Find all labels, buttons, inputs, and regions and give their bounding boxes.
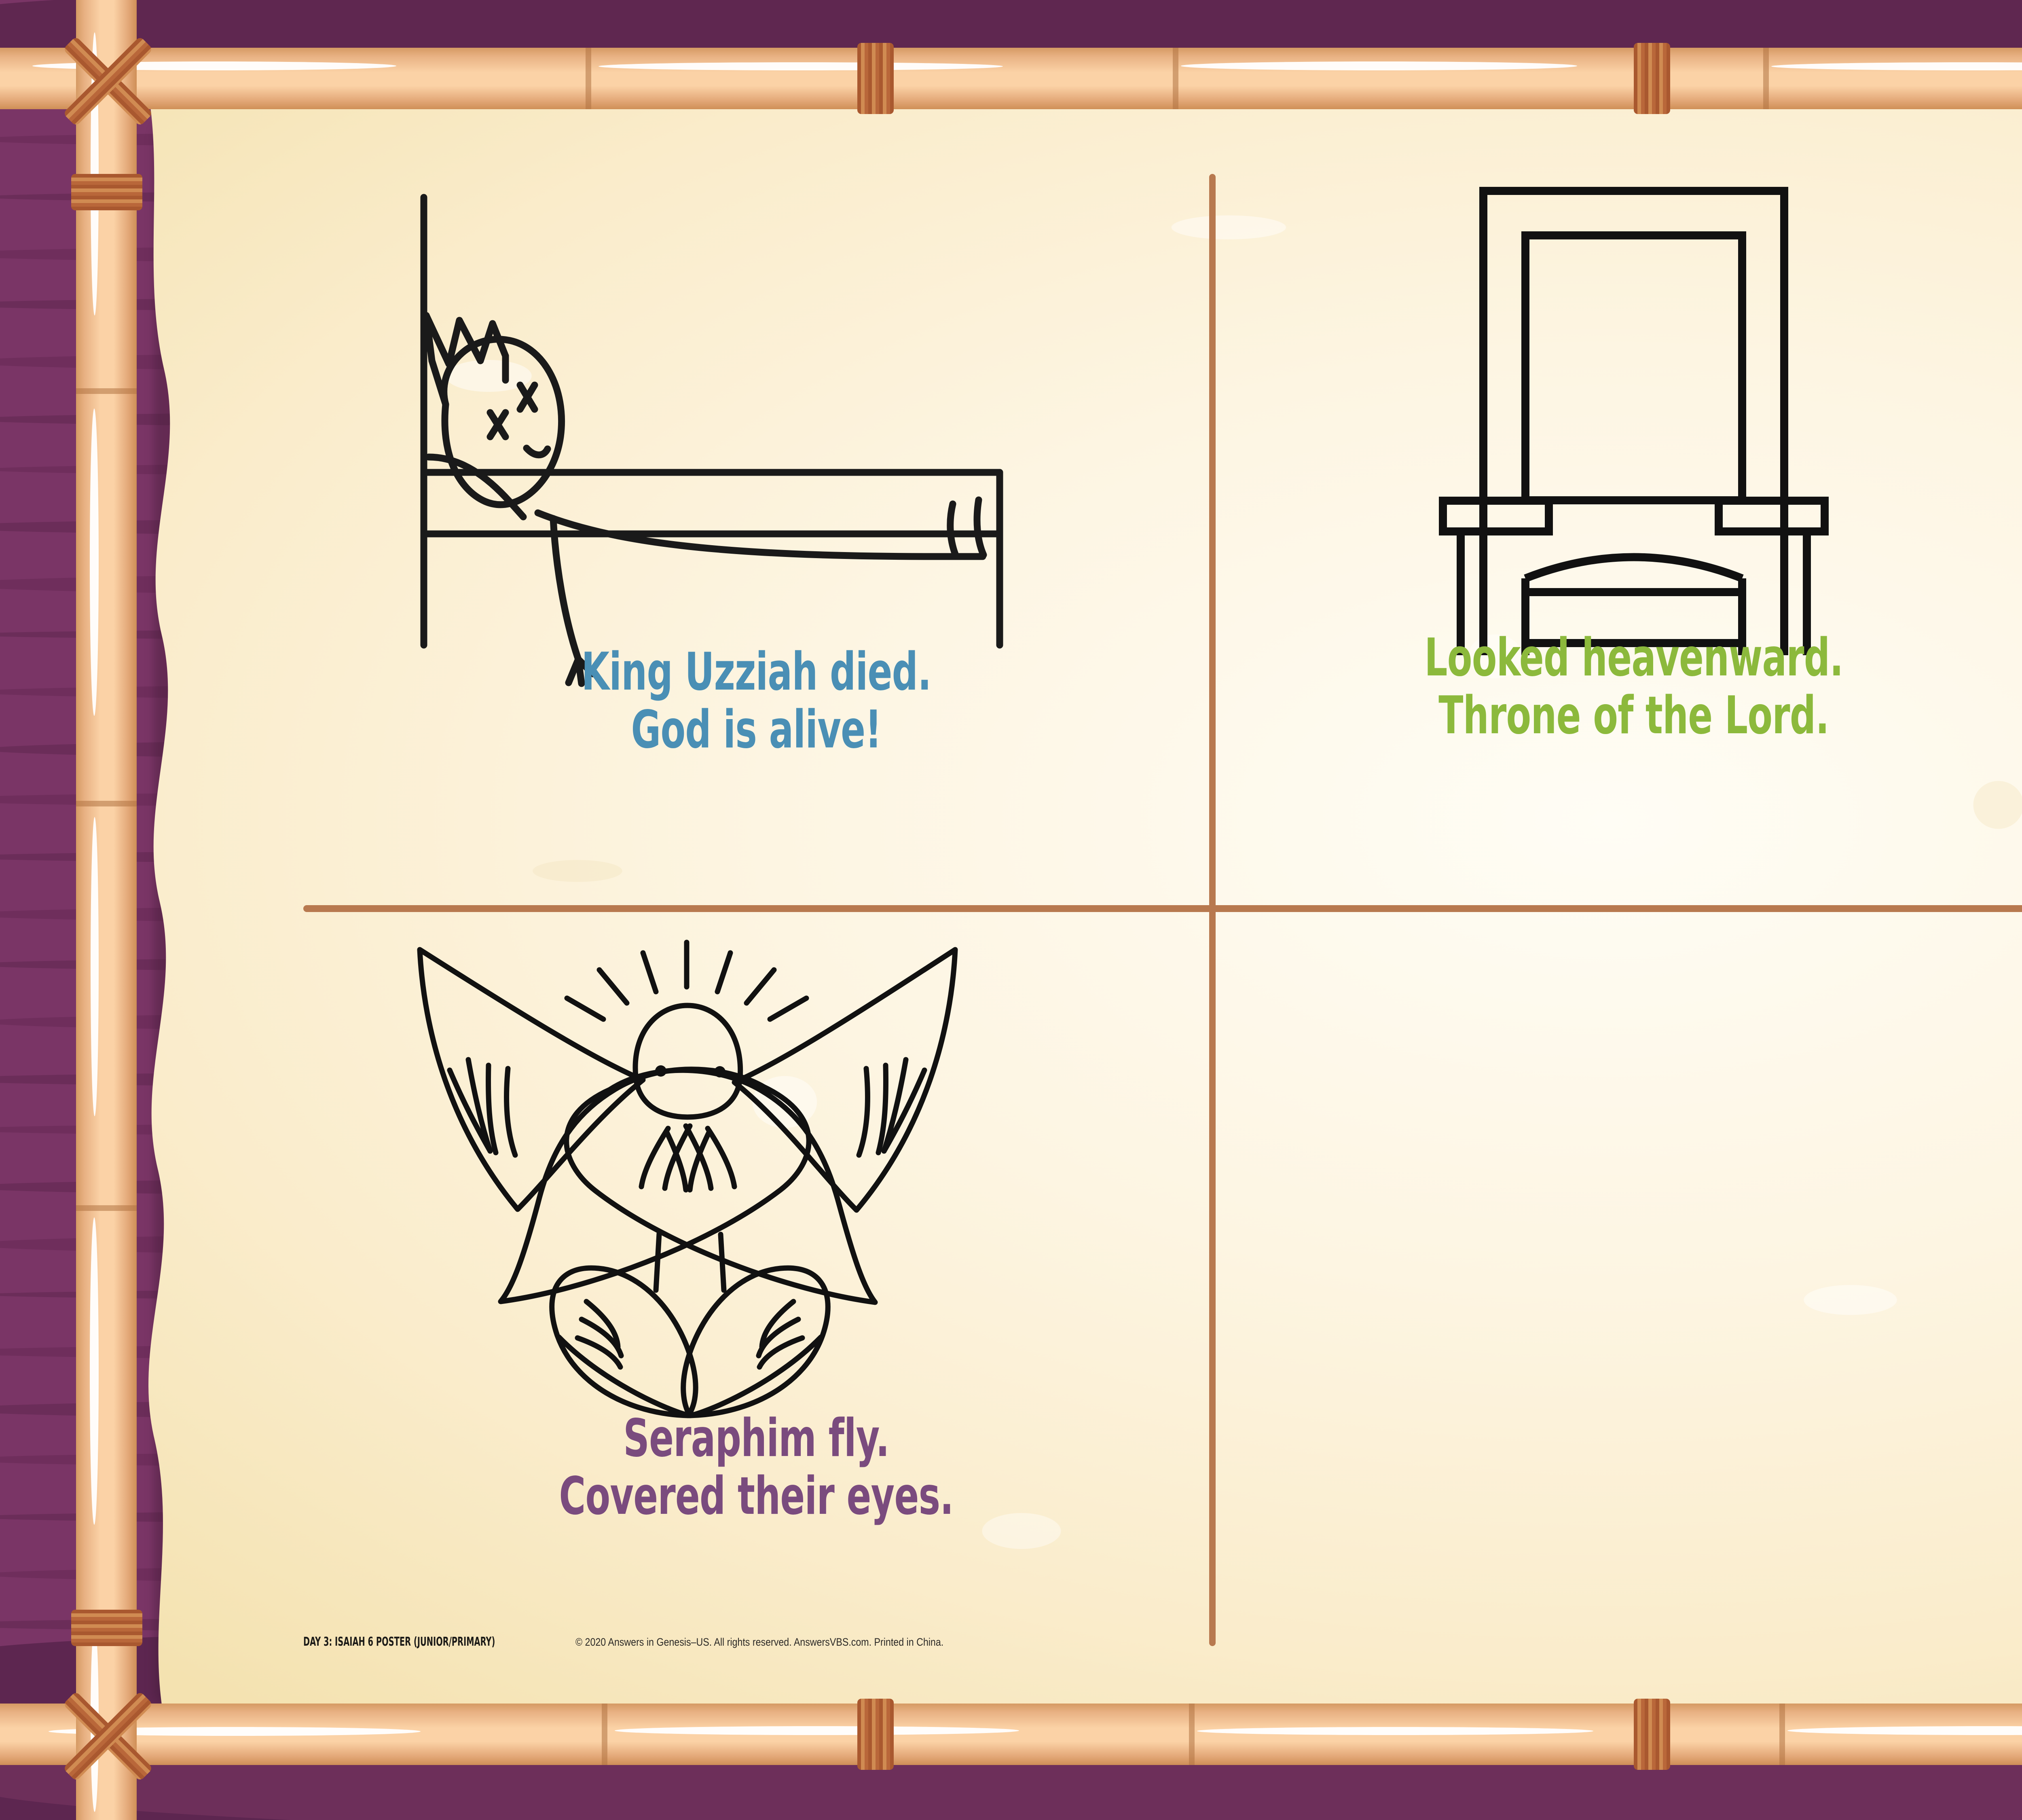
poster: King Uzziah died. God is alive! bbox=[0, 0, 2022, 1820]
bamboo-node-top-2 bbox=[1173, 48, 1178, 109]
bamboo-node-top-1 bbox=[586, 48, 591, 109]
bamboo-node-left-3 bbox=[76, 1205, 137, 1211]
seraph-six-wings-icon bbox=[417, 926, 958, 1424]
rope-band-bottom-mid bbox=[1634, 1699, 1670, 1770]
cell-2-caption-line-1: Looked heavenward. bbox=[1309, 629, 1959, 687]
grid-cell-4[interactable]: Seraphim fly. Covered their eyes. bbox=[315, 918, 1197, 1646]
bamboo-node-bottom-2 bbox=[1189, 1704, 1195, 1765]
cell-4-caption-line-2: Covered their eyes. bbox=[412, 1467, 1100, 1525]
rope-band-left-upper bbox=[71, 174, 142, 210]
cell-2-caption-line-2: Throne of the Lord. bbox=[1309, 687, 1959, 745]
bamboo-node-bottom-1 bbox=[602, 1704, 607, 1765]
bamboo-pole-top bbox=[0, 48, 2022, 109]
bamboo-node-left-1 bbox=[76, 388, 137, 394]
grid-line-vertical-1 bbox=[1209, 174, 1216, 1646]
footer-copyright: © 2020 Answers in Genesis–US. All rights… bbox=[575, 1636, 943, 1649]
bamboo-node-bottom-3 bbox=[1779, 1704, 1785, 1765]
cell-1-caption: King Uzziah died. God is alive! bbox=[412, 643, 1100, 759]
cell-1-caption-line-2: God is alive! bbox=[412, 701, 1100, 759]
grid-cell-1[interactable]: King Uzziah died. God is alive! bbox=[315, 162, 1197, 898]
footer-title: DAY 3: ISAIAH 6 POSTER (JUNIOR/PRIMARY) bbox=[303, 1635, 495, 1649]
rope-lashing-top-left bbox=[65, 36, 150, 121]
cell-1-caption-line-1: King Uzziah died. bbox=[412, 643, 1100, 701]
grid-cell-5[interactable] bbox=[1217, 918, 2022, 1646]
bamboo-pole-bottom bbox=[0, 1704, 2022, 1765]
bamboo-node-top-3 bbox=[1763, 48, 1769, 109]
cell-4-caption: Seraphim fly. Covered their eyes. bbox=[412, 1409, 1100, 1526]
king-on-deathbed-icon bbox=[384, 178, 1039, 663]
bamboo-node-left-2 bbox=[76, 801, 137, 806]
throne-chair-icon bbox=[1436, 174, 1832, 655]
footer-credit: DAY 3: ISAIAH 6 POSTER (JUNIOR/PRIMARY) … bbox=[303, 1635, 1003, 1649]
rope-band-top-right bbox=[857, 43, 894, 114]
grid-line-horizontal bbox=[303, 905, 2022, 912]
grid-cell-2[interactable]: Looked heavenward. Throne of the Lord. bbox=[1217, 162, 2022, 898]
cell-2-caption: Looked heavenward. Throne of the Lord. bbox=[1309, 629, 1959, 745]
rope-band-bottom-left bbox=[857, 1699, 894, 1770]
cell-4-caption-line-1: Seraphim fly. bbox=[412, 1409, 1100, 1467]
rope-band-left-lower bbox=[71, 1610, 142, 1646]
rope-lashing-bottom-left bbox=[65, 1691, 150, 1776]
rope-band-top-mid bbox=[1634, 43, 1670, 114]
bamboo-pole-left bbox=[76, 0, 137, 1820]
